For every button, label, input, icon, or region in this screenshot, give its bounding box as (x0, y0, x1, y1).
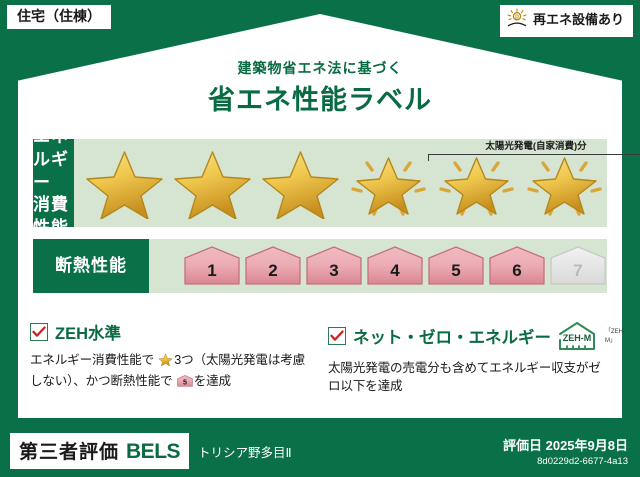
insulation-chip-value: 1 (207, 261, 216, 286)
insulation-chip-value: 7 (573, 261, 582, 286)
criterion-zeh-text-1: エネルギー消費性能で (30, 353, 154, 367)
energy-performance-row: エネルギー 消費性能 太陽光発電(自家消費)分 (33, 139, 607, 227)
zeh-m-logo-icon: ZEH-M (556, 320, 598, 352)
label-footer: 第三者評価 BELS トリシア野多目Ⅱ 評価日 2025年9月8日 8d0229… (0, 425, 640, 477)
evaluation-id: 8d0229d2-6677-4a13 (503, 456, 628, 467)
renewable-badge-label: 再エネ設備あり (533, 13, 624, 27)
building-name: トリシア野多目Ⅱ (198, 442, 292, 461)
svg-text:D: D (515, 15, 519, 21)
dwelling-type-tag: 住宅（住棟） (7, 5, 111, 29)
insulation-key-label: 断熱性能 (55, 255, 127, 278)
energy-key-line2: 消費性能 (33, 194, 74, 240)
insulation-chip: 4 (366, 246, 424, 286)
star-icon (170, 147, 255, 219)
insulation-chip: 6 (488, 246, 546, 286)
criterion-net-zero-body: 太陽光発電の売電分も含めてエネルギー収支がゼロ以下を達成 (328, 359, 610, 396)
insulation-chip-value: 5 (451, 261, 460, 286)
energy-performance-key: エネルギー 消費性能 (33, 139, 74, 227)
evaluation-date: 評価日 2025年9月8日 (503, 435, 628, 454)
insulation-chip: 1 (183, 246, 241, 286)
insulation-performance-row: 断熱性能 (33, 239, 607, 293)
svg-text:ZEH-M: ZEH-M (563, 333, 592, 343)
bels-certification-badge: 第三者評価 BELS (10, 433, 189, 469)
insulation-chip: 3 (305, 246, 363, 286)
criterion-zeh-header: ZEH水準 (30, 320, 311, 344)
insulation-performance-key: 断熱性能 (33, 239, 149, 293)
insulation-performance-value: 1 2 3 4 (149, 239, 607, 293)
criterion-net-zero: ネット・ゼロ・エネルギー ZEH-M 「ZEH-M」 (328, 320, 610, 396)
bels-ja-label: 第三者評価 (19, 437, 119, 464)
star-solar-icon (434, 147, 519, 219)
star-icon (258, 147, 343, 219)
criterion-zeh-title: ZEH水準 (55, 320, 121, 344)
sun-renewable-icon: D (506, 8, 528, 33)
energy-star-rating (74, 147, 607, 219)
insulation-chip: 2 (244, 246, 302, 286)
house-5-icon: 5 (173, 377, 192, 391)
svg-text:5: 5 (183, 379, 187, 387)
dwelling-type-label: 住宅（住棟） (17, 8, 101, 24)
energy-performance-label: 住宅（住棟） D 再エネ設備あり 建築物省エネ法に基づく 省 (0, 0, 640, 477)
insulation-chip-inactive: 7 (549, 246, 607, 286)
criterion-zeh: ZEH水準 エネルギー消費性能で 3つ（太陽光発電は考慮しない）、かつ断熱性能で… (30, 320, 311, 396)
label-subtitle: 建築物省エネ法に基づく (0, 58, 640, 78)
insulation-chip-value: 3 (329, 261, 338, 286)
star-solar-icon (346, 147, 431, 219)
checkbox-checked-icon (30, 323, 48, 341)
insulation-chip-value: 4 (390, 261, 399, 286)
renewable-equipment-badge: D 再エネ設備あり (500, 5, 633, 37)
zeh-m-logo-caption: 「ZEH-M」 (605, 326, 625, 346)
insulation-grade-scale: 1 2 3 4 (149, 246, 607, 286)
star-icon (155, 356, 173, 370)
label-title: 省エネ性能ラベル (0, 78, 640, 117)
star-solar-icon (522, 147, 607, 219)
energy-performance-value: 太陽光発電(自家消費)分 (74, 139, 607, 227)
insulation-chip-value: 6 (512, 261, 521, 286)
criterion-zeh-body: エネルギー消費性能で 3つ（太陽光発電は考慮しない）、かつ断熱性能で 5 を達成 (30, 351, 311, 394)
criterion-zeh-text-3: を達成 (194, 374, 231, 388)
criterion-net-zero-header: ネット・ゼロ・エネルギー ZEH-M 「ZEH-M」 (328, 320, 610, 352)
energy-key-line1: エネルギー (33, 126, 74, 195)
checkbox-checked-icon (328, 327, 346, 345)
footer-meta: 評価日 2025年9月8日 8d0229d2-6677-4a13 (503, 435, 628, 467)
star-icon (82, 147, 167, 219)
insulation-chip: 5 (427, 246, 485, 286)
bels-en-label: BELS (126, 440, 180, 464)
criteria-columns: ZEH水準 エネルギー消費性能で 3つ（太陽光発電は考慮しない）、かつ断熱性能で… (30, 320, 610, 396)
insulation-chip-value: 2 (268, 261, 277, 286)
criterion-net-zero-title: ネット・ゼロ・エネルギー (353, 324, 551, 348)
